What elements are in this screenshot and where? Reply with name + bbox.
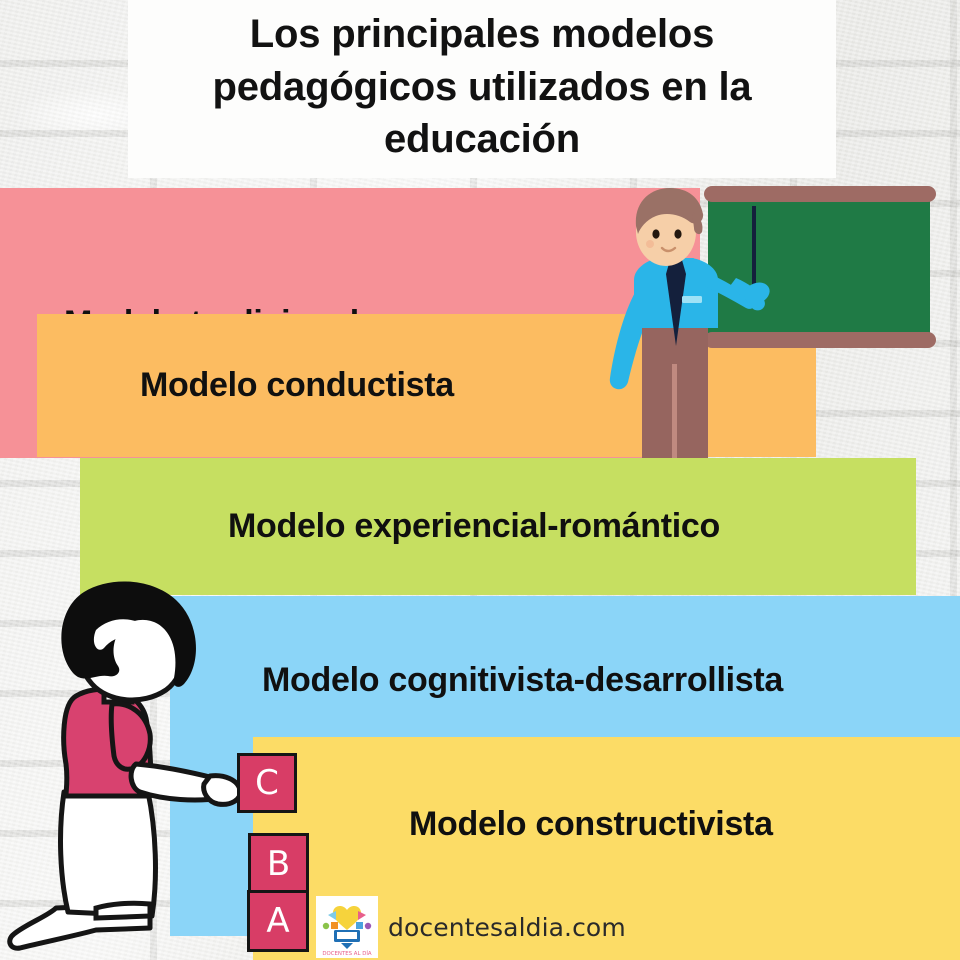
girl-skirt	[61, 792, 156, 916]
infographic-canvas: Modelo tradicional Modelo conductista Mo…	[0, 0, 960, 960]
chalkboard-top-frame	[704, 186, 936, 202]
bar-label-modelo-constructivista: Modelo constructivista	[409, 805, 773, 844]
logo-caption-text: DOCENTES AL DÍA	[322, 950, 372, 957]
logo-book-page	[337, 932, 357, 939]
girl-knee	[96, 903, 150, 918]
bar-label-modelo-experiencial-romantico: Modelo experiencial-romántico	[228, 507, 720, 546]
chalkboard-surface	[708, 196, 930, 338]
toy-block-c: C	[237, 753, 297, 813]
teacher-right-eye	[674, 229, 681, 238]
page-title: Los principales modelos pedagógicos util…	[195, 8, 770, 166]
toy-block-b: B	[248, 833, 309, 894]
teacher-name-badge	[682, 296, 702, 303]
title-line-1: Los principales modelos	[250, 12, 714, 56]
toy-block-c-letter: C	[255, 763, 279, 803]
logo-dot-left	[323, 923, 329, 929]
bar-label-modelo-conductista: Modelo conductista	[140, 366, 454, 405]
girl-hand	[204, 776, 241, 805]
toy-block-a-letter: A	[266, 901, 289, 941]
teacher-at-chalkboard-illustration	[600, 180, 960, 480]
teacher-pants-crease	[672, 364, 677, 458]
footer-site-url: docentesaldia.com	[388, 913, 626, 942]
logo-dot-right	[365, 923, 371, 929]
toy-block-b-letter: B	[267, 844, 290, 884]
teacher-left-eye	[652, 229, 659, 238]
title-card: Los principales modelos pedagógicos util…	[128, 0, 836, 178]
docentesaldia-logo: DOCENTES AL DÍA	[316, 896, 378, 958]
logo-square-left	[331, 922, 338, 929]
teacher-cheek	[646, 240, 654, 248]
toy-block-a: A	[247, 890, 309, 952]
title-line-3: educación	[384, 117, 580, 161]
logo-square-right	[356, 922, 363, 929]
docentesaldia-logo-mark: DOCENTES AL DÍA	[316, 896, 378, 958]
bar-label-modelo-cognitivista-desarrollista: Modelo cognitivista-desarrollista	[262, 661, 783, 700]
pointer-stick	[752, 206, 756, 292]
footer-watermark: DOCENTES AL DÍA docentesaldia.com	[316, 896, 626, 958]
chalkboard-bottom-frame	[704, 332, 936, 348]
title-line-2: pedagógicos utilizados en la	[213, 65, 752, 109]
